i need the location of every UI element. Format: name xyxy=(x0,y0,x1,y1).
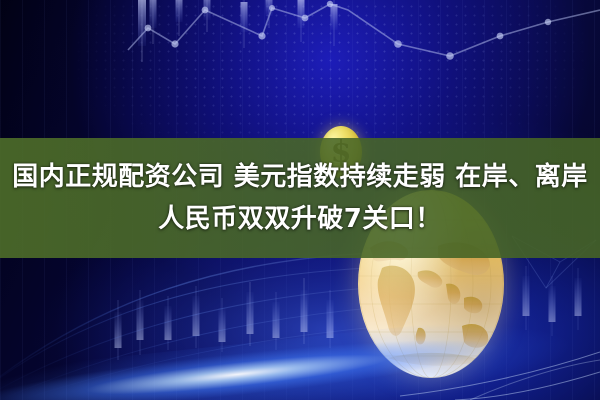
trend-line xyxy=(128,1,600,60)
headline-text: 国内正规配资公司 美元指数持续走弱 在岸、离岸 人民币双双升破7关口！ xyxy=(0,138,600,258)
headline-line-1: 国内正规配资公司 美元指数持续走弱 在岸、离岸 xyxy=(12,157,588,197)
candlestick-group-top xyxy=(138,0,338,62)
news-banner-image: $ xyxy=(0,0,600,400)
globe-continents xyxy=(370,241,490,366)
headline-line-2: 人民币双双升破7关口！ xyxy=(158,199,442,239)
